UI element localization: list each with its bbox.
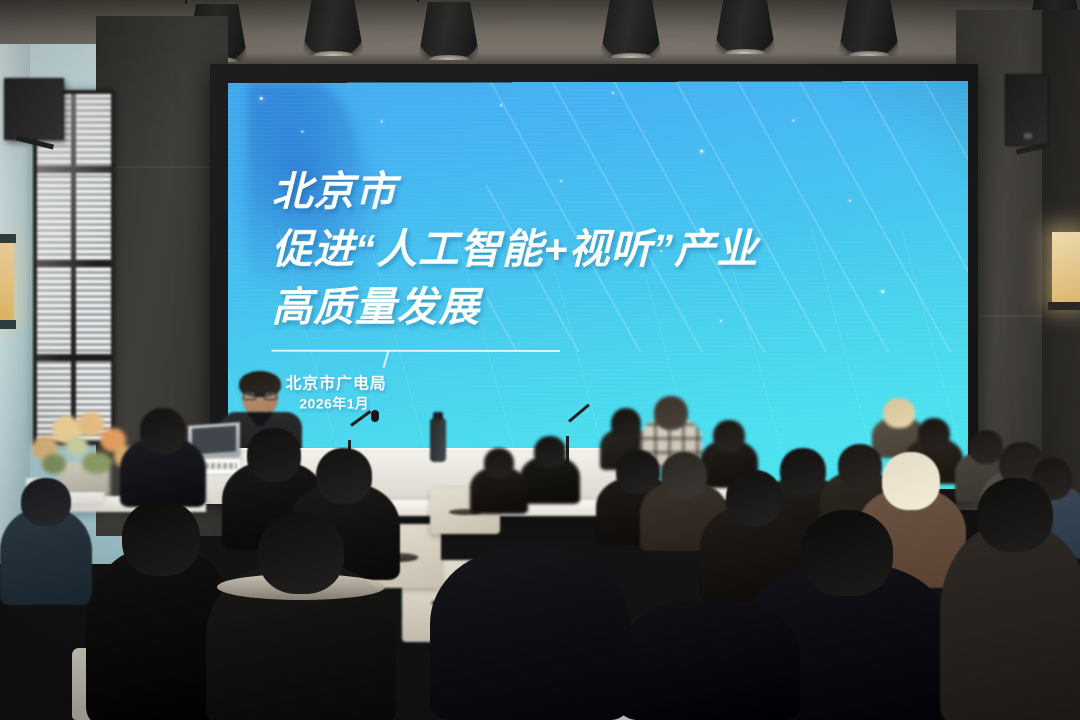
audience-member	[940, 478, 1080, 720]
right-wall-speaker-icon	[1005, 74, 1049, 146]
left-wall-light-cap	[0, 320, 16, 329]
audience-member-head	[258, 512, 344, 594]
left-wall-light-cap	[0, 234, 16, 243]
slide-star-dot	[381, 121, 383, 123]
audience-member-head	[654, 396, 688, 430]
slide-star-dot	[260, 97, 263, 100]
slide-star-dot	[612, 92, 614, 94]
audience-member	[206, 512, 396, 720]
audience-member-head	[21, 478, 71, 526]
left-wall-light	[0, 242, 14, 322]
audience-member	[470, 448, 528, 512]
microphone-head	[371, 410, 379, 422]
audience-member	[430, 548, 630, 720]
audience-member-head	[713, 420, 745, 452]
screenshot-root: 北京市 促进“人工智能+视听”产业 高质量发展 北京市广电局 2026年1月	[0, 0, 1080, 720]
audience-member-head	[122, 500, 200, 576]
slide-star-dot	[793, 120, 795, 122]
audience-member	[0, 478, 92, 602]
glasses-icon	[243, 391, 277, 400]
slide-star-dot	[500, 104, 502, 106]
audience-member-head	[918, 418, 950, 450]
audience-member-head	[801, 510, 893, 596]
audience-member-head	[316, 448, 372, 504]
audience-member	[620, 600, 800, 720]
audience-member	[520, 436, 580, 502]
audience-member-head	[140, 408, 186, 454]
audience-member-torso	[430, 548, 630, 720]
audience-member-head	[484, 448, 514, 478]
led-screen[interactable]: 北京市 促进“人工智能+视听”产业 高质量发展 北京市广电局 2026年1月	[228, 81, 968, 489]
audience-member-hood	[882, 452, 940, 510]
slide-divider-rule	[272, 350, 560, 352]
audience-member-torso	[940, 524, 1080, 720]
slide-title: 北京市 促进“人工智能+视听”产业 高质量发展	[272, 161, 932, 337]
audience-member	[120, 408, 206, 504]
slide-star-dot	[301, 131, 303, 133]
audience-member-head	[977, 478, 1053, 552]
audience-member-head	[534, 436, 566, 468]
slide-star-dot	[700, 150, 703, 153]
right-wall-light-cap	[1048, 302, 1080, 310]
water-bottle	[430, 418, 446, 462]
slide-date: 2026年1月	[299, 394, 369, 414]
audience-member-torso	[620, 600, 800, 720]
right-wall-light	[1052, 232, 1080, 304]
audience-member-head	[611, 408, 641, 440]
left-wall-speaker-icon	[4, 78, 64, 140]
right-wall-light-cap	[1048, 224, 1080, 232]
